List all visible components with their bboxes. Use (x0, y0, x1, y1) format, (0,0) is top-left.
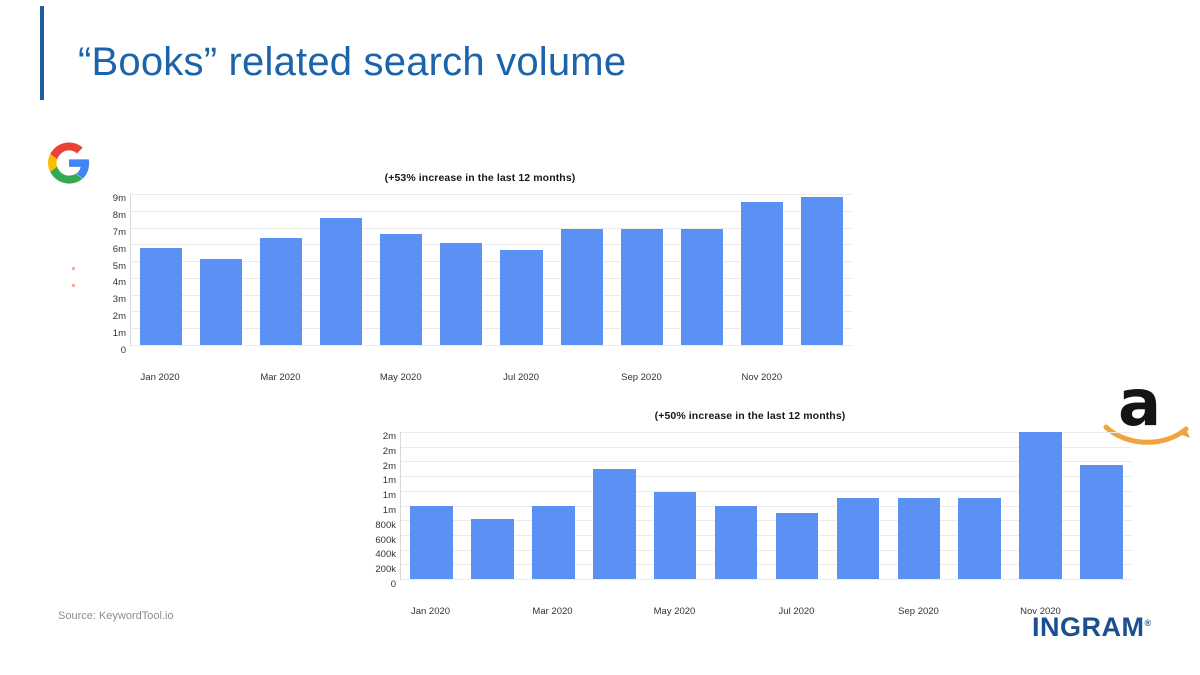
x-tick-label: May 2020 (644, 606, 705, 617)
bar-slot (462, 432, 523, 579)
bar-slot (792, 194, 852, 345)
x-tick-label: Jan 2020 (130, 372, 190, 383)
bar[interactable] (260, 238, 302, 345)
bar[interactable] (1080, 465, 1123, 579)
bar-slot (612, 194, 672, 345)
bar[interactable] (380, 234, 422, 345)
bar[interactable] (681, 229, 723, 345)
plot-area (400, 432, 1132, 580)
y-axis-labels: 2m2m2m1m1m1m800k600k400k200k0 (362, 432, 396, 580)
bar-slot (888, 432, 949, 579)
bar-slot (523, 432, 584, 579)
ingram-wordmark: INGRAM (1032, 612, 1145, 642)
bar[interactable] (440, 243, 482, 345)
x-tick-label (792, 372, 852, 383)
plot-area (130, 194, 852, 346)
bar[interactable] (200, 259, 242, 345)
x-tick-label (551, 372, 611, 383)
bar-slot (949, 432, 1010, 579)
bar-slot (401, 432, 462, 579)
source-note: Source: KeywordTool.io (58, 610, 174, 622)
bar[interactable] (471, 519, 514, 579)
bar[interactable] (837, 498, 880, 579)
x-axis-labels: Jan 2020Mar 2020May 2020Jul 2020Sep 2020… (400, 606, 1132, 617)
bar[interactable] (410, 506, 453, 580)
bar[interactable] (898, 498, 941, 579)
bar[interactable] (320, 218, 362, 346)
bar[interactable] (776, 513, 819, 579)
bar-slot (431, 194, 491, 345)
x-tick-label (949, 606, 1010, 617)
x-tick-label (431, 372, 491, 383)
google-g-icon (48, 142, 90, 184)
bar-series (131, 194, 852, 345)
bar[interactable] (593, 469, 636, 579)
plot-area-wrapper: 2m2m2m1m1m1m800k600k400k200k0 Jan 2020Ma… (362, 432, 1138, 580)
slide-canvas: “Books” related search volume (+53% incr… (0, 0, 1200, 675)
bar[interactable] (958, 498, 1001, 579)
bar-slot (827, 432, 888, 579)
x-tick-label: Sep 2020 (888, 606, 949, 617)
bar-slot (767, 432, 828, 579)
bar-slot (732, 194, 792, 345)
bar-slot (191, 194, 251, 345)
amazon-search-volume-chart: (+50% increase in the last 12 months) 2m… (362, 410, 1138, 590)
bar[interactable] (140, 248, 182, 345)
bar-slot (552, 194, 612, 345)
registered-mark: ® (1145, 618, 1152, 628)
bar[interactable] (715, 506, 758, 580)
gridline (401, 579, 1132, 580)
plot-area-wrapper: 9m8m7m6m5m4m3m2m1m0 Jan 2020Mar 2020May … (100, 194, 860, 346)
x-tick-label (461, 606, 522, 617)
bar-series (401, 432, 1132, 579)
bar-slot (1071, 432, 1132, 579)
bar-slot (251, 194, 311, 345)
bar-slot (672, 194, 732, 345)
bar-slot (311, 194, 371, 345)
bar-slot (584, 432, 645, 579)
bar[interactable] (654, 492, 697, 579)
x-tick-label: May 2020 (371, 372, 431, 383)
gridline (131, 345, 852, 346)
page-title: “Books” related search volume (78, 40, 626, 85)
bar[interactable] (741, 202, 783, 345)
bar-slot (491, 194, 551, 345)
x-tick-label: Jan 2020 (400, 606, 461, 617)
decorative-artifact-dot (72, 284, 75, 287)
x-tick-label: Mar 2020 (250, 372, 310, 383)
x-tick-label (311, 372, 371, 383)
x-tick-label (672, 372, 732, 383)
bar-slot (131, 194, 191, 345)
x-tick-label: Jul 2020 (491, 372, 551, 383)
bar-slot (706, 432, 767, 579)
bar-slot (1010, 432, 1071, 579)
google-search-volume-chart: (+53% increase in the last 12 months) 9m… (100, 172, 860, 367)
title-accent-bar (40, 6, 44, 100)
bar[interactable] (561, 229, 603, 345)
x-tick-label (705, 606, 766, 617)
bar[interactable] (532, 506, 575, 580)
decorative-artifact-dot (72, 267, 75, 270)
chart-title: (+50% increase in the last 12 months) (362, 410, 1138, 422)
x-tick-label (583, 606, 644, 617)
bar[interactable] (1019, 432, 1062, 579)
x-tick-label: Mar 2020 (522, 606, 583, 617)
x-tick-label: Nov 2020 (732, 372, 792, 383)
bar[interactable] (801, 197, 843, 345)
bar-slot (371, 194, 431, 345)
x-tick-label (827, 606, 888, 617)
chart-title: (+53% increase in the last 12 months) (100, 172, 860, 184)
bar[interactable] (500, 250, 542, 345)
x-tick-label (190, 372, 250, 383)
bar-slot (645, 432, 706, 579)
y-axis-labels: 9m8m7m6m5m4m3m2m1m0 (100, 194, 126, 346)
x-axis-labels: Jan 2020Mar 2020May 2020Jul 2020Sep 2020… (130, 372, 852, 383)
bar[interactable] (621, 229, 663, 345)
x-tick-label: Jul 2020 (766, 606, 827, 617)
x-tick-label: Sep 2020 (611, 372, 671, 383)
ingram-brand-logo: INGRAM® (1032, 612, 1152, 643)
